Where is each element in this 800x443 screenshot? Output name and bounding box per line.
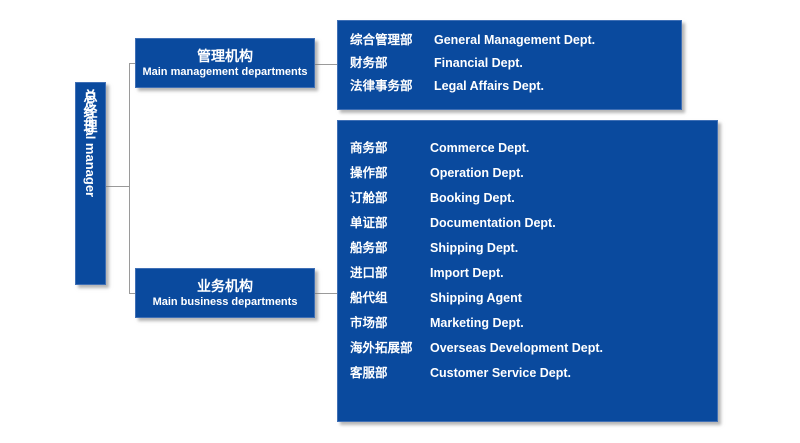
business-group-label-en: Main business departments — [153, 295, 298, 309]
department-name-en: Shipping Dept. — [430, 241, 518, 255]
management-group-label-cn: 管理机构 — [197, 47, 253, 65]
department-row[interactable]: 商务部 Commerce Dept. — [350, 137, 717, 162]
department-row[interactable]: 船务部 Shipping Dept. — [350, 237, 717, 262]
management-group-label-en: Main management departments — [142, 65, 307, 79]
department-name-cn: 操作部 — [350, 162, 430, 181]
department-name-en: Customer Service Dept. — [430, 366, 571, 380]
node-general-manager[interactable]: 总经理 General manager — [75, 82, 106, 285]
department-name-en: Documentation Dept. — [430, 216, 556, 230]
department-name-cn: 法律事务部 — [350, 75, 434, 94]
department-name-cn: 海外拓展部 — [350, 337, 430, 356]
department-row[interactable]: 单证部 Documentation Dept. — [350, 212, 717, 237]
department-name-en: Overseas Development Dept. — [430, 341, 603, 355]
department-row[interactable]: 法律事务部 Legal Affairs Dept. — [350, 75, 681, 98]
business-group-label-cn: 业务机构 — [197, 277, 253, 295]
department-name-cn: 订舱部 — [350, 187, 430, 206]
department-row[interactable]: 市场部 Marketing Dept. — [350, 312, 717, 337]
department-name-en: Shipping Agent — [430, 291, 522, 305]
department-name-en: Operation Dept. — [430, 166, 524, 180]
department-name-cn: 客服部 — [350, 362, 430, 381]
department-name-cn: 综合管理部 — [350, 29, 434, 48]
department-name-en: Booking Dept. — [430, 191, 515, 205]
connector-root-stub — [106, 186, 130, 187]
department-name-cn: 市场部 — [350, 312, 430, 331]
connector-business-group-to-list — [315, 293, 338, 294]
department-row[interactable]: 海外拓展部 Overseas Development Dept. — [350, 337, 717, 362]
department-name-cn: 进口部 — [350, 262, 430, 281]
department-name-cn: 财务部 — [350, 52, 434, 71]
node-management-group[interactable]: 管理机构 Main management departments — [135, 38, 315, 88]
department-row[interactable]: 财务部 Financial Dept. — [350, 52, 681, 75]
department-row[interactable]: 综合管理部 General Management Dept. — [350, 29, 681, 52]
connector-spine — [129, 63, 130, 293]
department-name-en: Import Dept. — [430, 266, 504, 280]
department-row[interactable]: 操作部 Operation Dept. — [350, 162, 717, 187]
department-row[interactable]: 船代组 Shipping Agent — [350, 287, 717, 312]
department-name-en: General Management Dept. — [434, 33, 595, 47]
department-row[interactable]: 订舱部 Booking Dept. — [350, 187, 717, 212]
department-row[interactable]: 进口部 Import Dept. — [350, 262, 717, 287]
org-chart-canvas: 总经理 General manager 管理机构 Main management… — [0, 0, 800, 443]
department-name-en: Legal Affairs Dept. — [434, 79, 544, 93]
management-department-list: 综合管理部 General Management Dept. 财务部 Finan… — [337, 20, 682, 110]
department-name-cn: 商务部 — [350, 137, 430, 156]
department-name-en: Commerce Dept. — [430, 141, 529, 155]
department-name-cn: 单证部 — [350, 212, 430, 231]
department-row[interactable]: 客服部 Customer Service Dept. — [350, 362, 717, 387]
business-department-list: 商务部 Commerce Dept. 操作部 Operation Dept. 订… — [337, 120, 718, 422]
department-name-en: Financial Dept. — [434, 56, 523, 70]
department-name-cn: 船代组 — [350, 287, 430, 306]
department-name-cn: 船务部 — [350, 237, 430, 256]
node-business-group[interactable]: 业务机构 Main business departments — [135, 268, 315, 318]
department-name-en: Marketing Dept. — [430, 316, 524, 330]
connector-management-group-to-list — [315, 64, 338, 65]
